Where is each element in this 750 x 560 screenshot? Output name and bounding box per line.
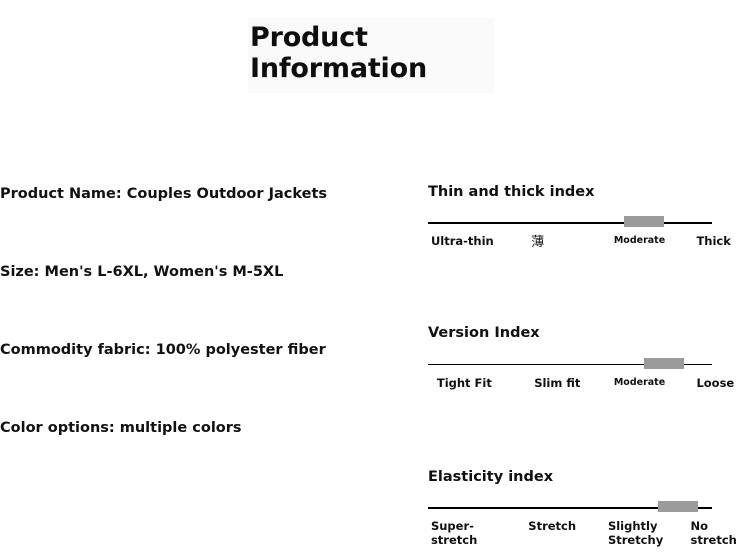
scale-line [428, 222, 712, 224]
index-scales-panel: Thin and thick index Ultra-thin薄Moderate… [428, 184, 728, 560]
spec-text: Size: Men's L-6XL, Women's M-5XL [0, 264, 283, 281]
page-title-line-1: Product [250, 22, 488, 53]
scale-label: Ultra-thin [431, 235, 494, 249]
index-group-version: Version Index Tight FitSlim fitModerateL… [428, 325, 728, 416]
scale-label: SlightlyStretchy [608, 520, 663, 547]
scale-label-row: Ultra-thin薄ModerateThick [428, 235, 723, 275]
product-information-page: { "title": { "line1": "Product", "line2"… [0, 0, 750, 501]
elasticity-scale[interactable] [428, 501, 712, 513]
spec-row-fabric: Commodity fabric: 100% polyester fiber [0, 342, 400, 420]
index-group-elasticity: Elasticity index Super-stretchStretchSli… [428, 469, 728, 560]
version-scale[interactable] [428, 358, 712, 370]
scale-label-row: Super-stretchStretchSlightlyStretchyNost… [428, 520, 723, 560]
index-group-thickness: Thin and thick index Ultra-thin薄Moderate… [428, 184, 728, 275]
scale-label: Moderate [614, 235, 665, 246]
scale-label: Tight Fit [437, 377, 492, 391]
spec-row-product-name: Product Name: Couples Outdoor Jackets [0, 186, 400, 264]
spec-text: Commodity fabric: 100% polyester fiber [0, 342, 326, 359]
index-heading: Thin and thick index [428, 184, 728, 201]
scale-label: Thick [696, 235, 730, 249]
scale-label: Slim fit [534, 377, 580, 391]
scale-label: Loose [696, 377, 734, 391]
scale-marker[interactable] [658, 501, 698, 512]
scale-label: 薄 [531, 235, 544, 250]
thickness-scale[interactable] [428, 216, 712, 228]
spec-row-color-options: Color options: multiple colors [0, 420, 400, 498]
spec-text: Product Name: Couples Outdoor Jackets [0, 186, 327, 203]
index-heading: Version Index [428, 325, 728, 342]
scale-label: Super-stretch [431, 520, 477, 547]
scale-label: Stretch [528, 520, 576, 534]
spec-text: Color options: multiple colors [0, 420, 242, 437]
spec-row-size: Size: Men's L-6XL, Women's M-5XL [0, 264, 400, 342]
product-spec-list: Product Name: Couples Outdoor Jackets Si… [0, 186, 400, 498]
scale-label-row: Tight FitSlim fitModerateLoose [428, 377, 723, 417]
scale-label: Moderate [614, 377, 665, 388]
page-title: Product Information [248, 18, 494, 93]
scale-marker[interactable] [644, 358, 684, 369]
index-heading: Elasticity index [428, 469, 728, 486]
page-title-line-2: Information [250, 53, 488, 84]
scale-label: Nostretch [691, 520, 737, 547]
scale-marker[interactable] [624, 216, 664, 227]
